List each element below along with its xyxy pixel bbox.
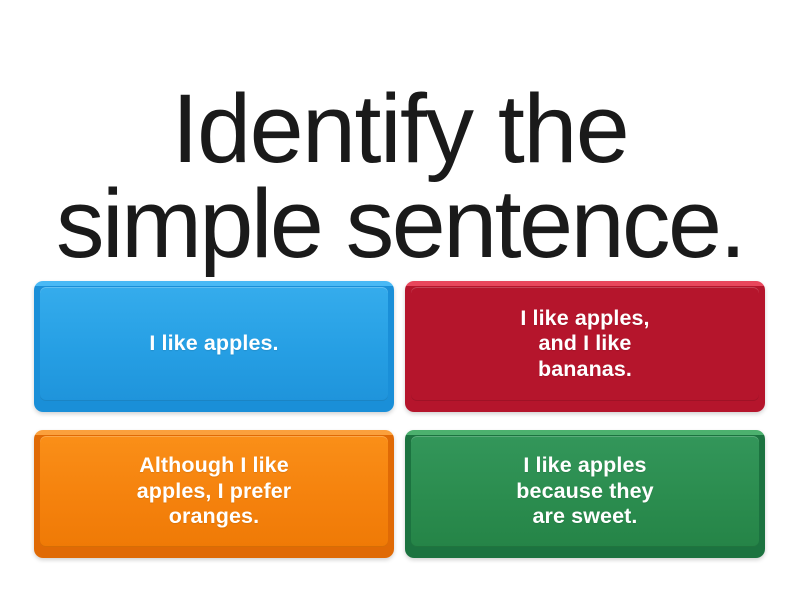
answer-option-1-face: I like apples. <box>40 287 388 401</box>
answer-options-grid: I like apples. I like apples, and I like… <box>34 281 765 558</box>
answer-option-2[interactable]: I like apples, and I like bananas. <box>405 281 765 412</box>
answer-option-3-face: Although I like apples, I prefer oranges… <box>40 436 388 547</box>
answer-option-2-face: I like apples, and I like bananas. <box>411 287 759 401</box>
answer-option-4-label: I like apples because they are sweet. <box>516 453 653 529</box>
question-title-line-1: Identify the <box>0 81 800 176</box>
answer-option-3-label: Although I like apples, I prefer oranges… <box>137 453 292 529</box>
page-title: Identify the simple sentence. <box>0 65 800 271</box>
answer-option-3[interactable]: Although I like apples, I prefer oranges… <box>34 430 394 558</box>
answer-option-4[interactable]: I like apples because they are sweet. <box>405 430 765 558</box>
quiz-container: Identify the simple sentence. I like app… <box>0 0 800 600</box>
answer-option-2-label: I like apples, and I like bananas. <box>520 306 649 382</box>
answer-option-1-label: I like apples. <box>149 331 278 356</box>
answer-option-1[interactable]: I like apples. <box>34 281 394 412</box>
answer-option-4-face: I like apples because they are sweet. <box>411 436 759 547</box>
question-title-line-2: simple sentence. <box>0 176 800 271</box>
